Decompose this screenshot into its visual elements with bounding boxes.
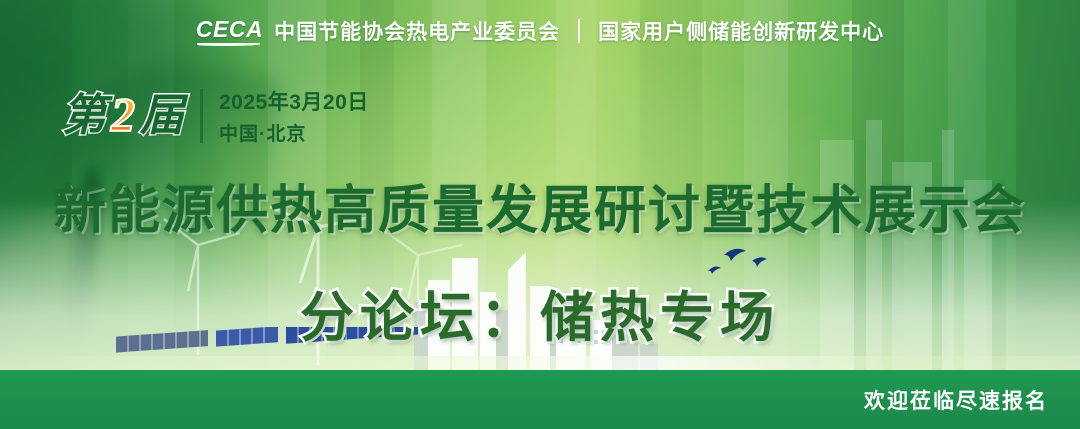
header-divider — [578, 19, 580, 43]
edition-label: 第 2 届 — [62, 92, 184, 140]
page-title: 新能源供热高质量发展研讨暨技术展示会 — [0, 168, 1080, 243]
banner-footer: 欢迎莅临尽速报名 — [0, 370, 1080, 429]
ceca-logo: CECA — [196, 16, 263, 46]
ground-highlight — [0, 356, 1080, 370]
forum-subtitle: 分论坛：储热专场 — [0, 273, 1080, 352]
banner-header: CECA 中国节能协会热电产业委员会 国家用户侧储能创新研发中心 — [0, 0, 1080, 62]
edition-prefix: 第 — [62, 94, 106, 138]
edition-number: 2 — [108, 92, 138, 140]
organization-name: 中国节能协会热电产业委员会 — [274, 16, 560, 46]
edition-suffix: 届 — [140, 94, 184, 138]
registration-call-to-action: 欢迎莅临尽速报名 — [864, 385, 1048, 415]
event-date: 2025年3月20日 — [219, 86, 369, 116]
edition-date-block: 第 2 届 2025年3月20日 中国·北京 — [62, 86, 369, 146]
edition-divider — [200, 89, 203, 143]
conference-banner: CECA 中国节能协会热电产业委员会 国家用户侧储能创新研发中心 第 2 届 2… — [0, 0, 1080, 429]
date-location-column: 2025年3月20日 中国·北京 — [219, 86, 369, 146]
research-center-name: 国家用户侧储能创新研发中心 — [598, 16, 884, 46]
event-location: 中国·北京 — [219, 119, 369, 146]
